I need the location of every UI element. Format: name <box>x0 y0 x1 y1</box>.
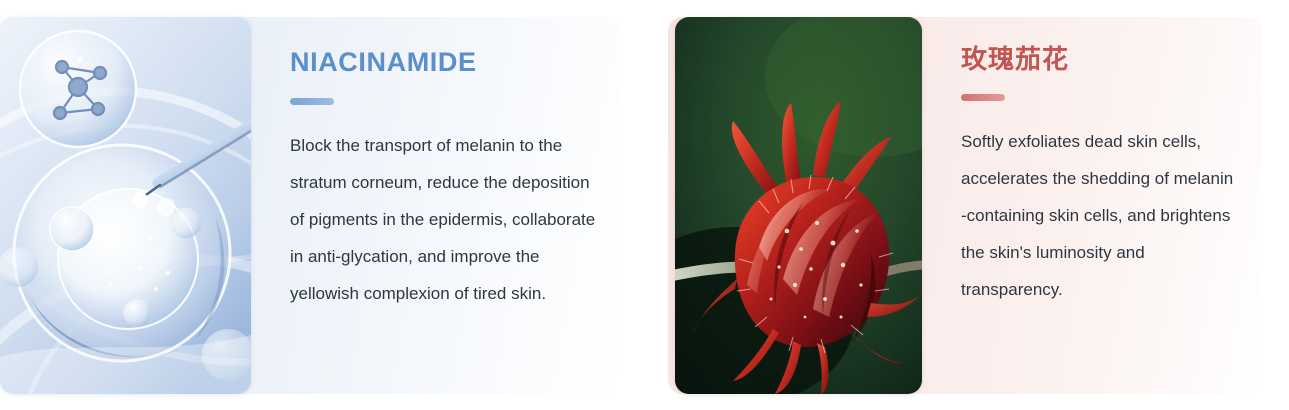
ingredient-card-roselle: 玫瑰茄花 Softly exfoliates dead skin cells, … <box>668 17 1262 394</box>
title-accent-rule <box>290 98 334 105</box>
ingredient-card-niacinamide: NIACINAMIDE Block the transport of melan… <box>0 17 622 394</box>
card-title: 玫瑰茄花 <box>961 45 1236 74</box>
serum-bubbles-molecule-photo <box>0 17 251 394</box>
card-description: Softly exfoliates dead skin cells, accel… <box>961 101 1236 308</box>
title-accent-rule <box>961 94 1005 101</box>
card-body-niacinamide: NIACINAMIDE Block the transport of melan… <box>251 17 622 394</box>
card-body-roselle: 玫瑰茄花 Softly exfoliates dead skin cells, … <box>922 17 1262 394</box>
roselle-flower-bud-photo <box>675 17 922 394</box>
card-description: Block the transport of melanin to the st… <box>290 105 596 312</box>
ingredient-cards-board: NIACINAMIDE Block the transport of melan… <box>0 0 1289 410</box>
card-title: NIACINAMIDE <box>290 48 596 78</box>
